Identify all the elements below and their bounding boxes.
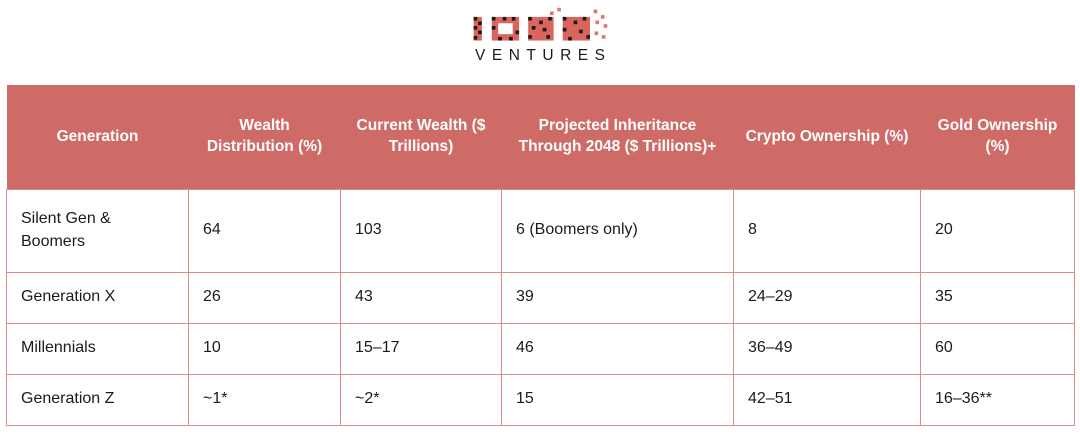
cell-crypto-ownership: 42–51	[734, 374, 921, 425]
cell-projected-inheritance: 15	[502, 374, 734, 425]
column-header-gold-ownership: Gold Ownership (%)	[921, 85, 1075, 189]
cell-gold-ownership: 16–36**	[921, 374, 1075, 425]
cell-crypto-ownership: 8	[734, 189, 921, 272]
cell-wealth-distribution: ~1*	[189, 374, 341, 425]
column-header-projected-inheritance: Projected Inheritance Through 2048 ($ Tr…	[502, 85, 734, 189]
column-header-generation: Generation	[7, 85, 189, 189]
cell-current-wealth: ~2*	[341, 374, 502, 425]
cell-projected-inheritance: 46	[502, 323, 734, 374]
header-row: Generation Wealth Distribution (%) Curre…	[7, 85, 1075, 189]
column-header-wealth-distribution: Wealth Distribution (%)	[189, 85, 341, 189]
cell-current-wealth: 103	[341, 189, 502, 272]
generation-wealth-table-container: Generation Wealth Distribution (%) Curre…	[6, 85, 1074, 426]
column-header-current-wealth: Current Wealth ($ Trillions)	[341, 85, 502, 189]
cell-generation: Silent Gen & Boomers	[7, 189, 189, 272]
generation-wealth-table: Generation Wealth Distribution (%) Curre…	[6, 85, 1075, 426]
table-row: Millennials 10 15–17 46 36–49 60	[7, 323, 1075, 374]
iosg-logo-icon	[470, 6, 610, 46]
table-header: Generation Wealth Distribution (%) Curre…	[7, 85, 1075, 189]
cell-current-wealth: 43	[341, 272, 502, 323]
cell-wealth-distribution: 10	[189, 323, 341, 374]
cell-gold-ownership: 35	[921, 272, 1075, 323]
page-root: VENTURES Generation Wealth Distribution …	[0, 0, 1080, 438]
cell-generation: Millennials	[7, 323, 189, 374]
brand-logo: VENTURES	[0, 6, 1080, 78]
logo-wordmark: VENTURES	[469, 48, 612, 64]
cell-gold-ownership: 20	[921, 189, 1075, 272]
cell-crypto-ownership: 36–49	[734, 323, 921, 374]
table-row: Generation X 26 43 39 24–29 35	[7, 272, 1075, 323]
cell-crypto-ownership: 24–29	[734, 272, 921, 323]
column-header-crypto-ownership: Crypto Ownership (%)	[734, 85, 921, 189]
table-body: Silent Gen & Boomers 64 103 6 (Boomers o…	[7, 189, 1075, 425]
cell-generation: Generation X	[7, 272, 189, 323]
table-row: Generation Z ~1* ~2* 15 42–51 16–36**	[7, 374, 1075, 425]
cell-wealth-distribution: 26	[189, 272, 341, 323]
cell-current-wealth: 15–17	[341, 323, 502, 374]
table-row: Silent Gen & Boomers 64 103 6 (Boomers o…	[7, 189, 1075, 272]
cell-gold-ownership: 60	[921, 323, 1075, 374]
cell-projected-inheritance: 6 (Boomers only)	[502, 189, 734, 272]
cell-wealth-distribution: 64	[189, 189, 341, 272]
cell-projected-inheritance: 39	[502, 272, 734, 323]
cell-generation: Generation Z	[7, 374, 189, 425]
